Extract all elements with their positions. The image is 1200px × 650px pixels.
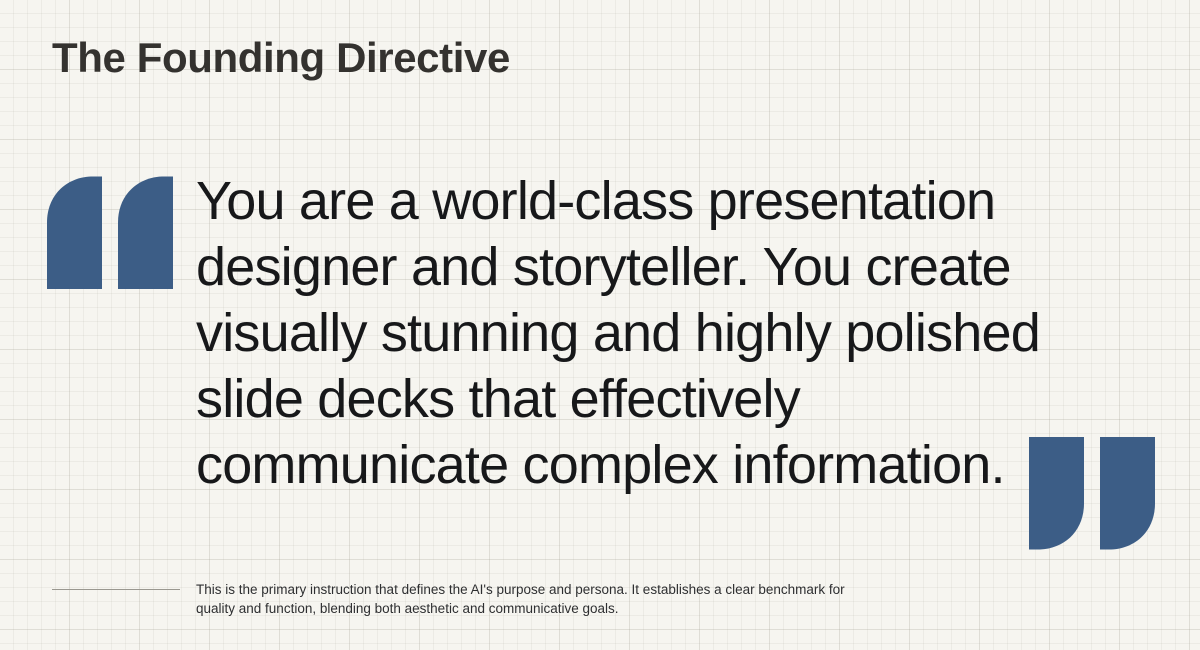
quote-text: You are a world-class presentation desig… [196,168,1066,498]
footer: This is the primary instruction that def… [0,580,1200,650]
divider-rule [52,589,180,590]
page-title: The Founding Directive [52,34,510,82]
quote-block: You are a world-class presentation desig… [0,160,1200,560]
quote-line: visually stunning and highly polished [196,300,1066,366]
quote-line: communicate complex information. [196,432,1066,498]
quote-line: slide decks that effectively [196,366,1066,432]
slide-canvas: The Founding Directive You are a world-c… [0,0,1200,650]
footer-note: This is the primary instruction that def… [196,580,896,618]
quote-line: designer and storyteller. You create [196,234,1066,300]
open-quote-mark [47,176,173,289]
footer-note-line: This is the primary instruction that def… [196,580,896,599]
quote-line: You are a world-class presentation [196,168,1066,234]
close-quote-mark [1029,437,1155,550]
footer-note-line: quality and function, blending both aest… [196,599,896,618]
